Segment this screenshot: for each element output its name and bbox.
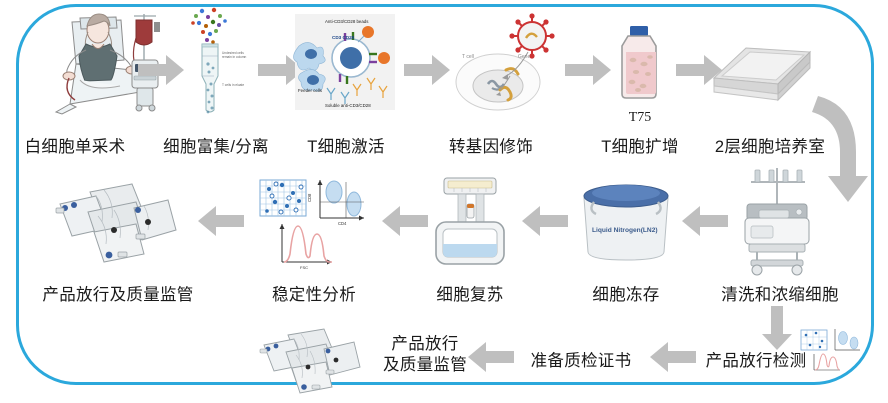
arrow-9 <box>198 206 244 236</box>
label-cell-thawing: 细胞复苏 <box>414 281 526 305</box>
label-release-testing: 产品放行检测 <box>700 347 812 371</box>
activation-receptor-annotation: CD3 CD28 <box>332 35 355 40</box>
magnetic-column-icon: Undesired cells remain in column T cells… <box>182 6 248 116</box>
cytometry-y-axis-label: CD8 <box>307 193 312 202</box>
liquid-nitrogen-dewar-icon: Liquid Nitrogen(LN2) <box>578 176 674 266</box>
cytometry-x-axis-label: CD4 <box>338 221 347 226</box>
activation-feeder-annotation: Feeder cells <box>298 88 323 93</box>
viral-vector-transduction-icon: T cell Gene <box>448 10 560 118</box>
label-cell-enrichment: 细胞富集/分离 <box>148 133 284 157</box>
label-coa-preparation: 准备质检证书 <box>525 347 637 371</box>
culture-flask-icon <box>614 24 666 106</box>
arrow-down-row2-row3 <box>762 306 792 350</box>
transduction-gene-annotation: Gene <box>518 54 530 60</box>
arrow-8 <box>382 206 428 236</box>
t-cell-activation-icon: Anti-CD3/CD28 beads CD3 CD28 Feeder cell… <box>295 14 395 110</box>
label-final-release-line2: 及质量监管 <box>370 355 480 376</box>
label-t-cell-activation: T细胞激活 <box>288 133 404 157</box>
flow-cytometry-analysis-icon: CD8 CD4 FSC <box>258 172 370 272</box>
label-gene-modification: 转基因修饰 <box>432 133 550 157</box>
arrow-1 <box>138 55 184 85</box>
sublabel-t75: T75 <box>600 110 680 126</box>
transduction-cell-annotation: T cell <box>462 54 474 60</box>
label-wash-concentrate: 清洗和浓缩细胞 <box>712 281 848 305</box>
activation-soluble-annotation: Soluble anti-CD3/CD28 <box>325 103 371 108</box>
label-leukapheresis: 白细胞单采术 <box>10 133 140 157</box>
cell-washer-machine-icon <box>735 166 819 276</box>
cytometry-hist-axis-label: FSC <box>300 265 308 270</box>
svg-text:remain in column: remain in column <box>222 55 246 59</box>
cryobags-icon-final <box>258 325 362 395</box>
arrow-curve-row1-row2 <box>812 92 878 212</box>
dewar-ln2-annotation: Liquid Nitrogen(LN2) <box>592 227 658 234</box>
label-t-cell-expansion: T细胞扩增 <box>578 133 702 157</box>
multi-layer-tray-icon <box>712 44 812 100</box>
cryobags-icon <box>52 178 180 264</box>
column-bottom-annotation: T cells in eluate <box>222 83 244 87</box>
label-final-release-line1: 产品放行 <box>370 334 480 355</box>
label-product-release-qc: 产品放行及质量监管 <box>20 281 216 305</box>
arrow-7 <box>522 206 568 236</box>
arrow-10 <box>650 342 696 372</box>
arrow-4 <box>565 55 611 85</box>
arrow-6 <box>682 206 728 236</box>
water-bath-thaw-icon <box>432 176 508 268</box>
arrow-3 <box>404 55 450 85</box>
activation-beads-annotation: Anti-CD3/CD28 beads <box>325 19 369 24</box>
label-final-release: 产品放行 及质量监管 <box>370 334 480 375</box>
workflow-diagram: 白细胞单采术 <box>0 0 888 403</box>
label-stability-analysis: 稳定性分析 <box>258 281 370 305</box>
label-cryopreservation: 细胞冻存 <box>570 281 682 305</box>
